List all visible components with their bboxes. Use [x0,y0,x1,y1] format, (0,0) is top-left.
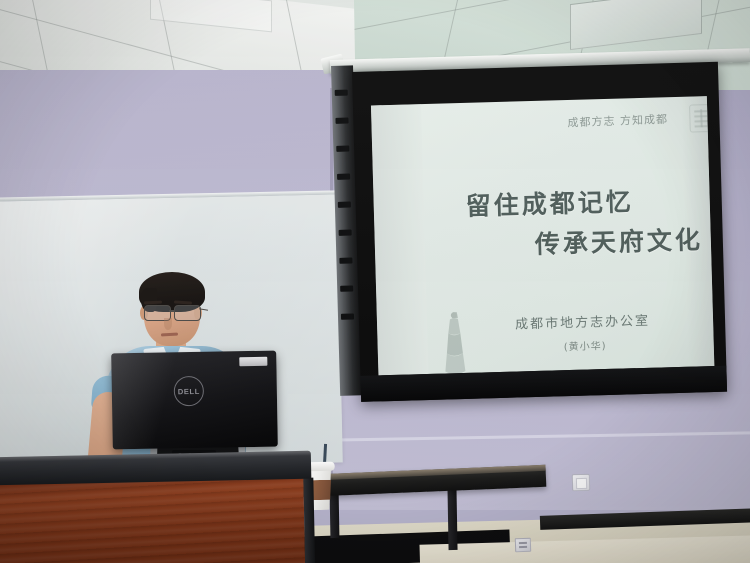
podium-wood-panel [0,478,305,563]
monitor-sticker [239,357,267,366]
slide-title-line-2: 传承天府文化 [534,220,703,261]
slide-author: (黄小华) [564,337,607,353]
slide-ink-figure-icon [437,309,473,376]
wood-grain [0,478,305,563]
presentation-photo: 成都方志 方知成都 留住成都记忆 传承天府文化 成都市地方志办公室 (黄小华) … [0,0,750,563]
light-switch[interactable] [572,474,590,491]
power-outlet [515,538,531,553]
slide-seal-stamp-icon [689,104,714,133]
dell-monitor: DELL [111,351,278,450]
slide-title-line-1: 留住成都记忆 [465,182,634,223]
glasses-lens-right [174,305,201,321]
podium [0,451,313,563]
projected-slide: 成都方志 方知成都 留住成都记忆 传承天府文化 成都市地方志办公室 (黄小华) … [371,96,714,375]
slide-organization: 成都市地方志办公室 [515,310,650,333]
projector-screen: 成都方志 方知成都 留住成都记忆 传承天府文化 成都市地方志办公室 (黄小华) … [352,62,727,402]
desk-leg [447,486,457,550]
presenter-nose [164,318,172,330]
slide-left-margin [371,104,429,375]
glasses-icon [138,305,206,320]
slide-header-text: 成都方志 方知成都 [567,111,668,131]
podium-side-edge [303,478,315,563]
glasses-bridge [169,310,174,312]
